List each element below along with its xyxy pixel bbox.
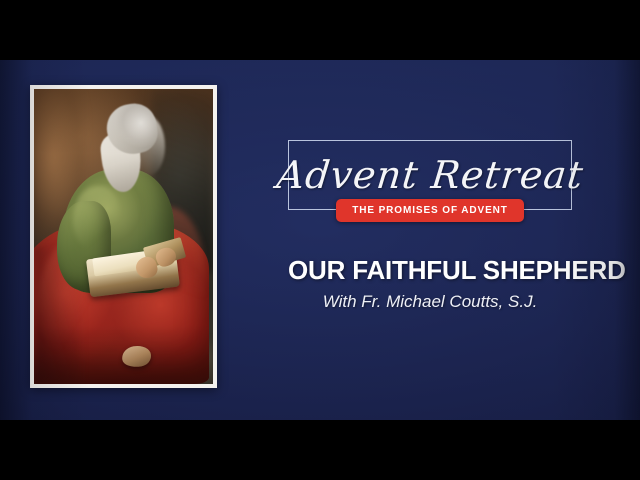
series-badge-wrap: THE PROMISES OF ADVENT	[288, 199, 572, 222]
letterbox-bar-top	[0, 0, 640, 60]
title-block: Advent Retreat THE PROMISES OF ADVENT OU…	[288, 140, 572, 210]
painting-tunic-highlight	[73, 186, 120, 251]
series-badge: THE PROMISES OF ADVENT	[336, 199, 524, 222]
slide-stage: Advent Retreat THE PROMISES OF ADVENT OU…	[0, 60, 640, 420]
letterbox-bar-bottom	[0, 420, 640, 480]
series-wordmark: Advent Retreat	[275, 156, 585, 194]
talk-byline: With Fr. Michael Coutts, S.J.	[288, 292, 572, 312]
artwork-frame	[30, 85, 217, 388]
artwork-image	[34, 89, 213, 384]
talk-headline: OUR FAITHFUL SHEPHERD	[288, 255, 572, 286]
video-slide: Advent Retreat THE PROMISES OF ADVENT OU…	[0, 0, 640, 480]
